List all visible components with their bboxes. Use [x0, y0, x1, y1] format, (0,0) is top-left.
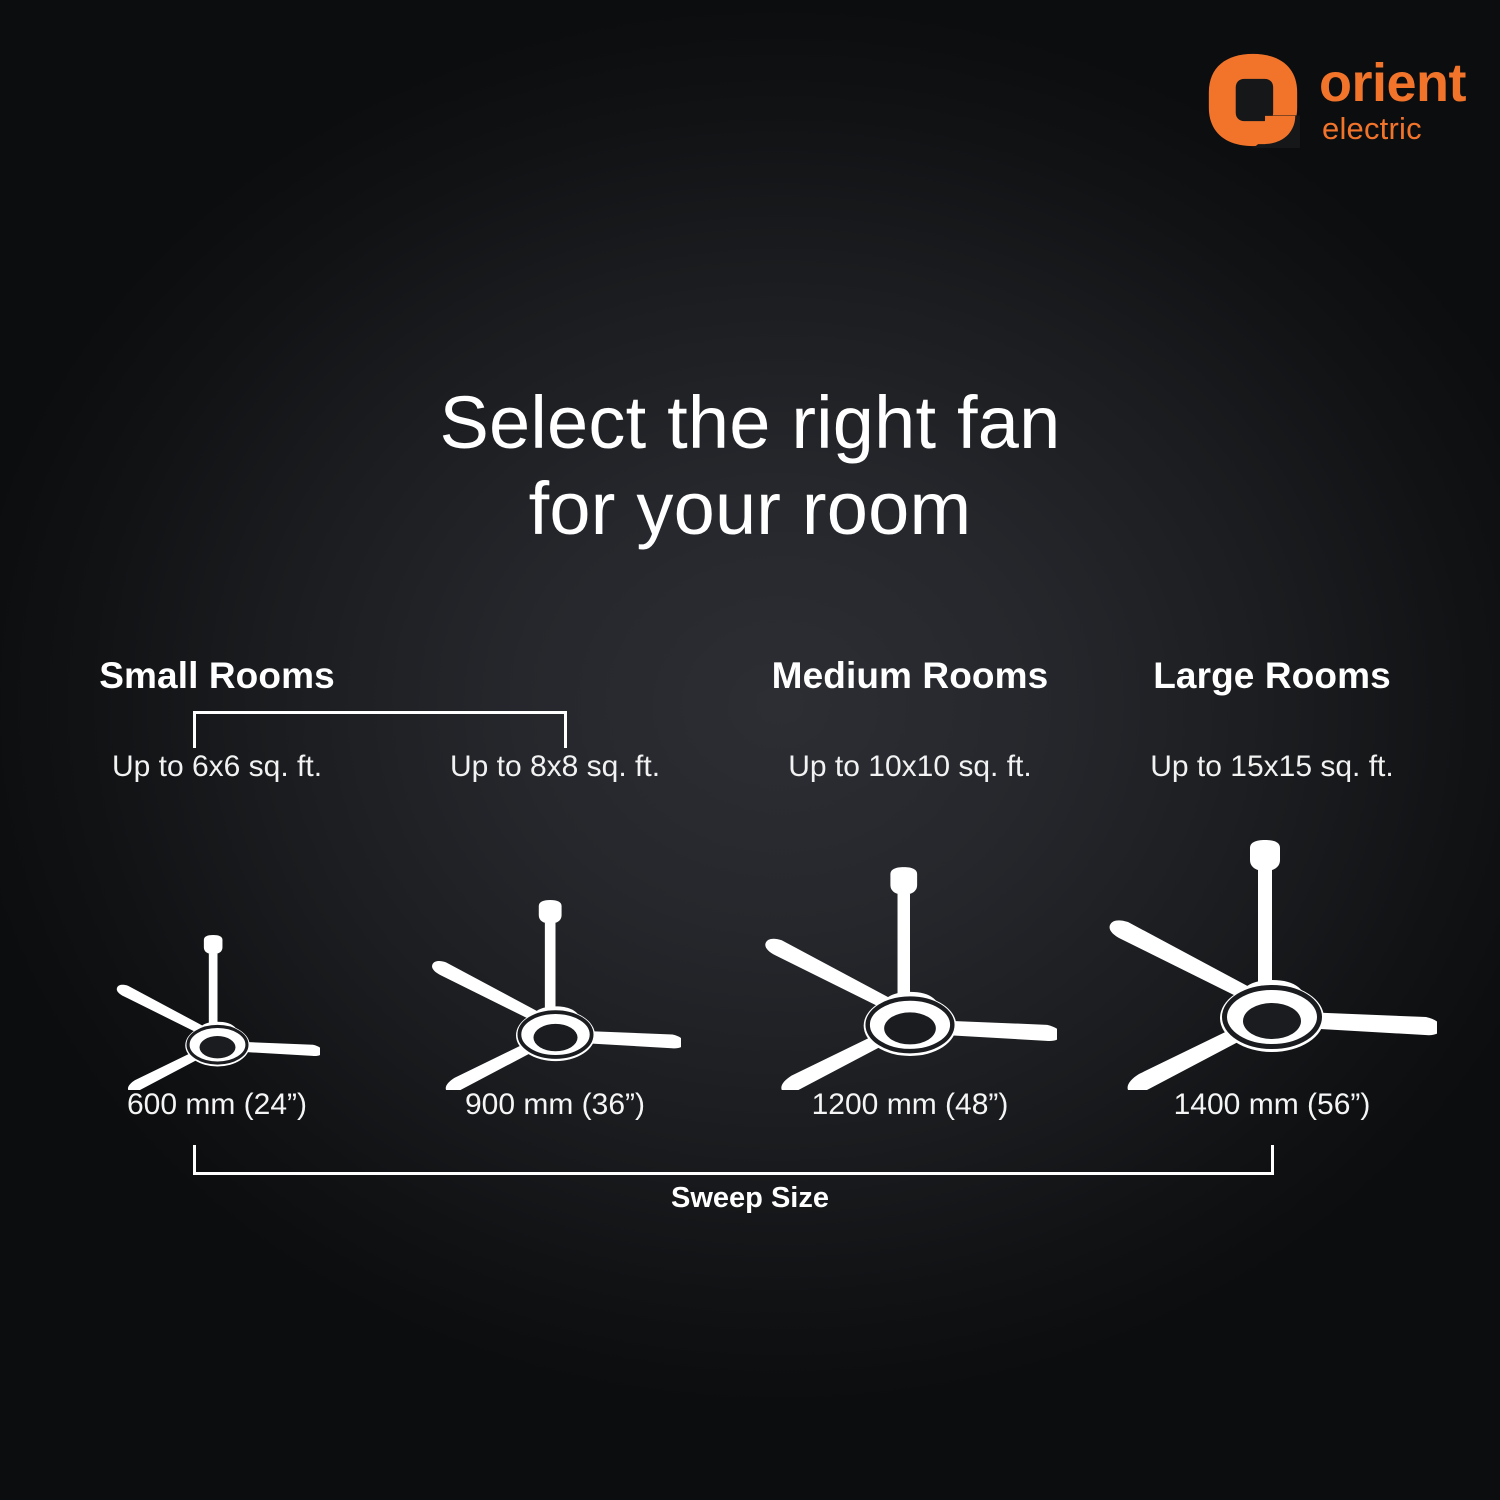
fan-illustration-0	[27, 830, 407, 1090]
ceiling-fan-icon	[430, 900, 681, 1090]
brand-wordmark: orient electric	[1319, 56, 1466, 144]
sweep-size-label-0: 600 mm (24”)	[27, 1088, 407, 1122]
page-title-line-1: Select the right fan	[0, 380, 1500, 467]
sweep-size-label-1: 900 mm (36”)	[365, 1088, 745, 1122]
column-large-rooms: Large Rooms	[1082, 655, 1462, 711]
sweep-size-label-3: 1400 mm (56”)	[1082, 1088, 1462, 1122]
page-title: Select the right fan for your room	[0, 380, 1500, 553]
brand-logo: orient electric	[1205, 52, 1466, 148]
column-medium-rooms: Medium Rooms	[720, 655, 1100, 711]
group-title-medium-rooms: Medium Rooms	[720, 655, 1100, 711]
room-size-label-0: Up to 6x6 sq. ft.	[27, 750, 407, 784]
fan-illustration-2	[720, 830, 1100, 1090]
group-title-large-rooms: Large Rooms	[1082, 655, 1462, 711]
sweep-size-caption: Sweep Size	[0, 1182, 1500, 1215]
ceiling-fan-icon	[763, 867, 1057, 1090]
ceiling-fan-icon	[115, 935, 320, 1090]
room-size-label-1: Up to 8x8 sq. ft.	[365, 750, 745, 784]
column-small-rooms-1: Small Rooms	[27, 655, 407, 711]
infographic-canvas: orient electric Select the right fan for…	[0, 0, 1500, 1500]
brand-name: orient	[1319, 56, 1466, 110]
fan-illustration-1	[365, 830, 745, 1090]
room-size-label-2: Up to 10x10 sq. ft.	[720, 750, 1100, 784]
room-size-label-3: Up to 15x15 sq. ft.	[1082, 750, 1462, 784]
orient-o-mark-icon	[1205, 52, 1301, 148]
group-title-small-rooms: Small Rooms	[27, 655, 407, 711]
brand-tagline: electric	[1319, 113, 1466, 144]
small-rooms-bracket	[193, 711, 567, 748]
fan-illustration-3	[1082, 830, 1462, 1090]
page-title-line-2: for your room	[0, 466, 1500, 553]
sweep-size-label-2: 1200 mm (48”)	[720, 1088, 1100, 1122]
column-small-rooms-2	[365, 655, 745, 711]
ceiling-fan-icon	[1107, 840, 1437, 1090]
sweep-size-bracket	[193, 1145, 1274, 1175]
